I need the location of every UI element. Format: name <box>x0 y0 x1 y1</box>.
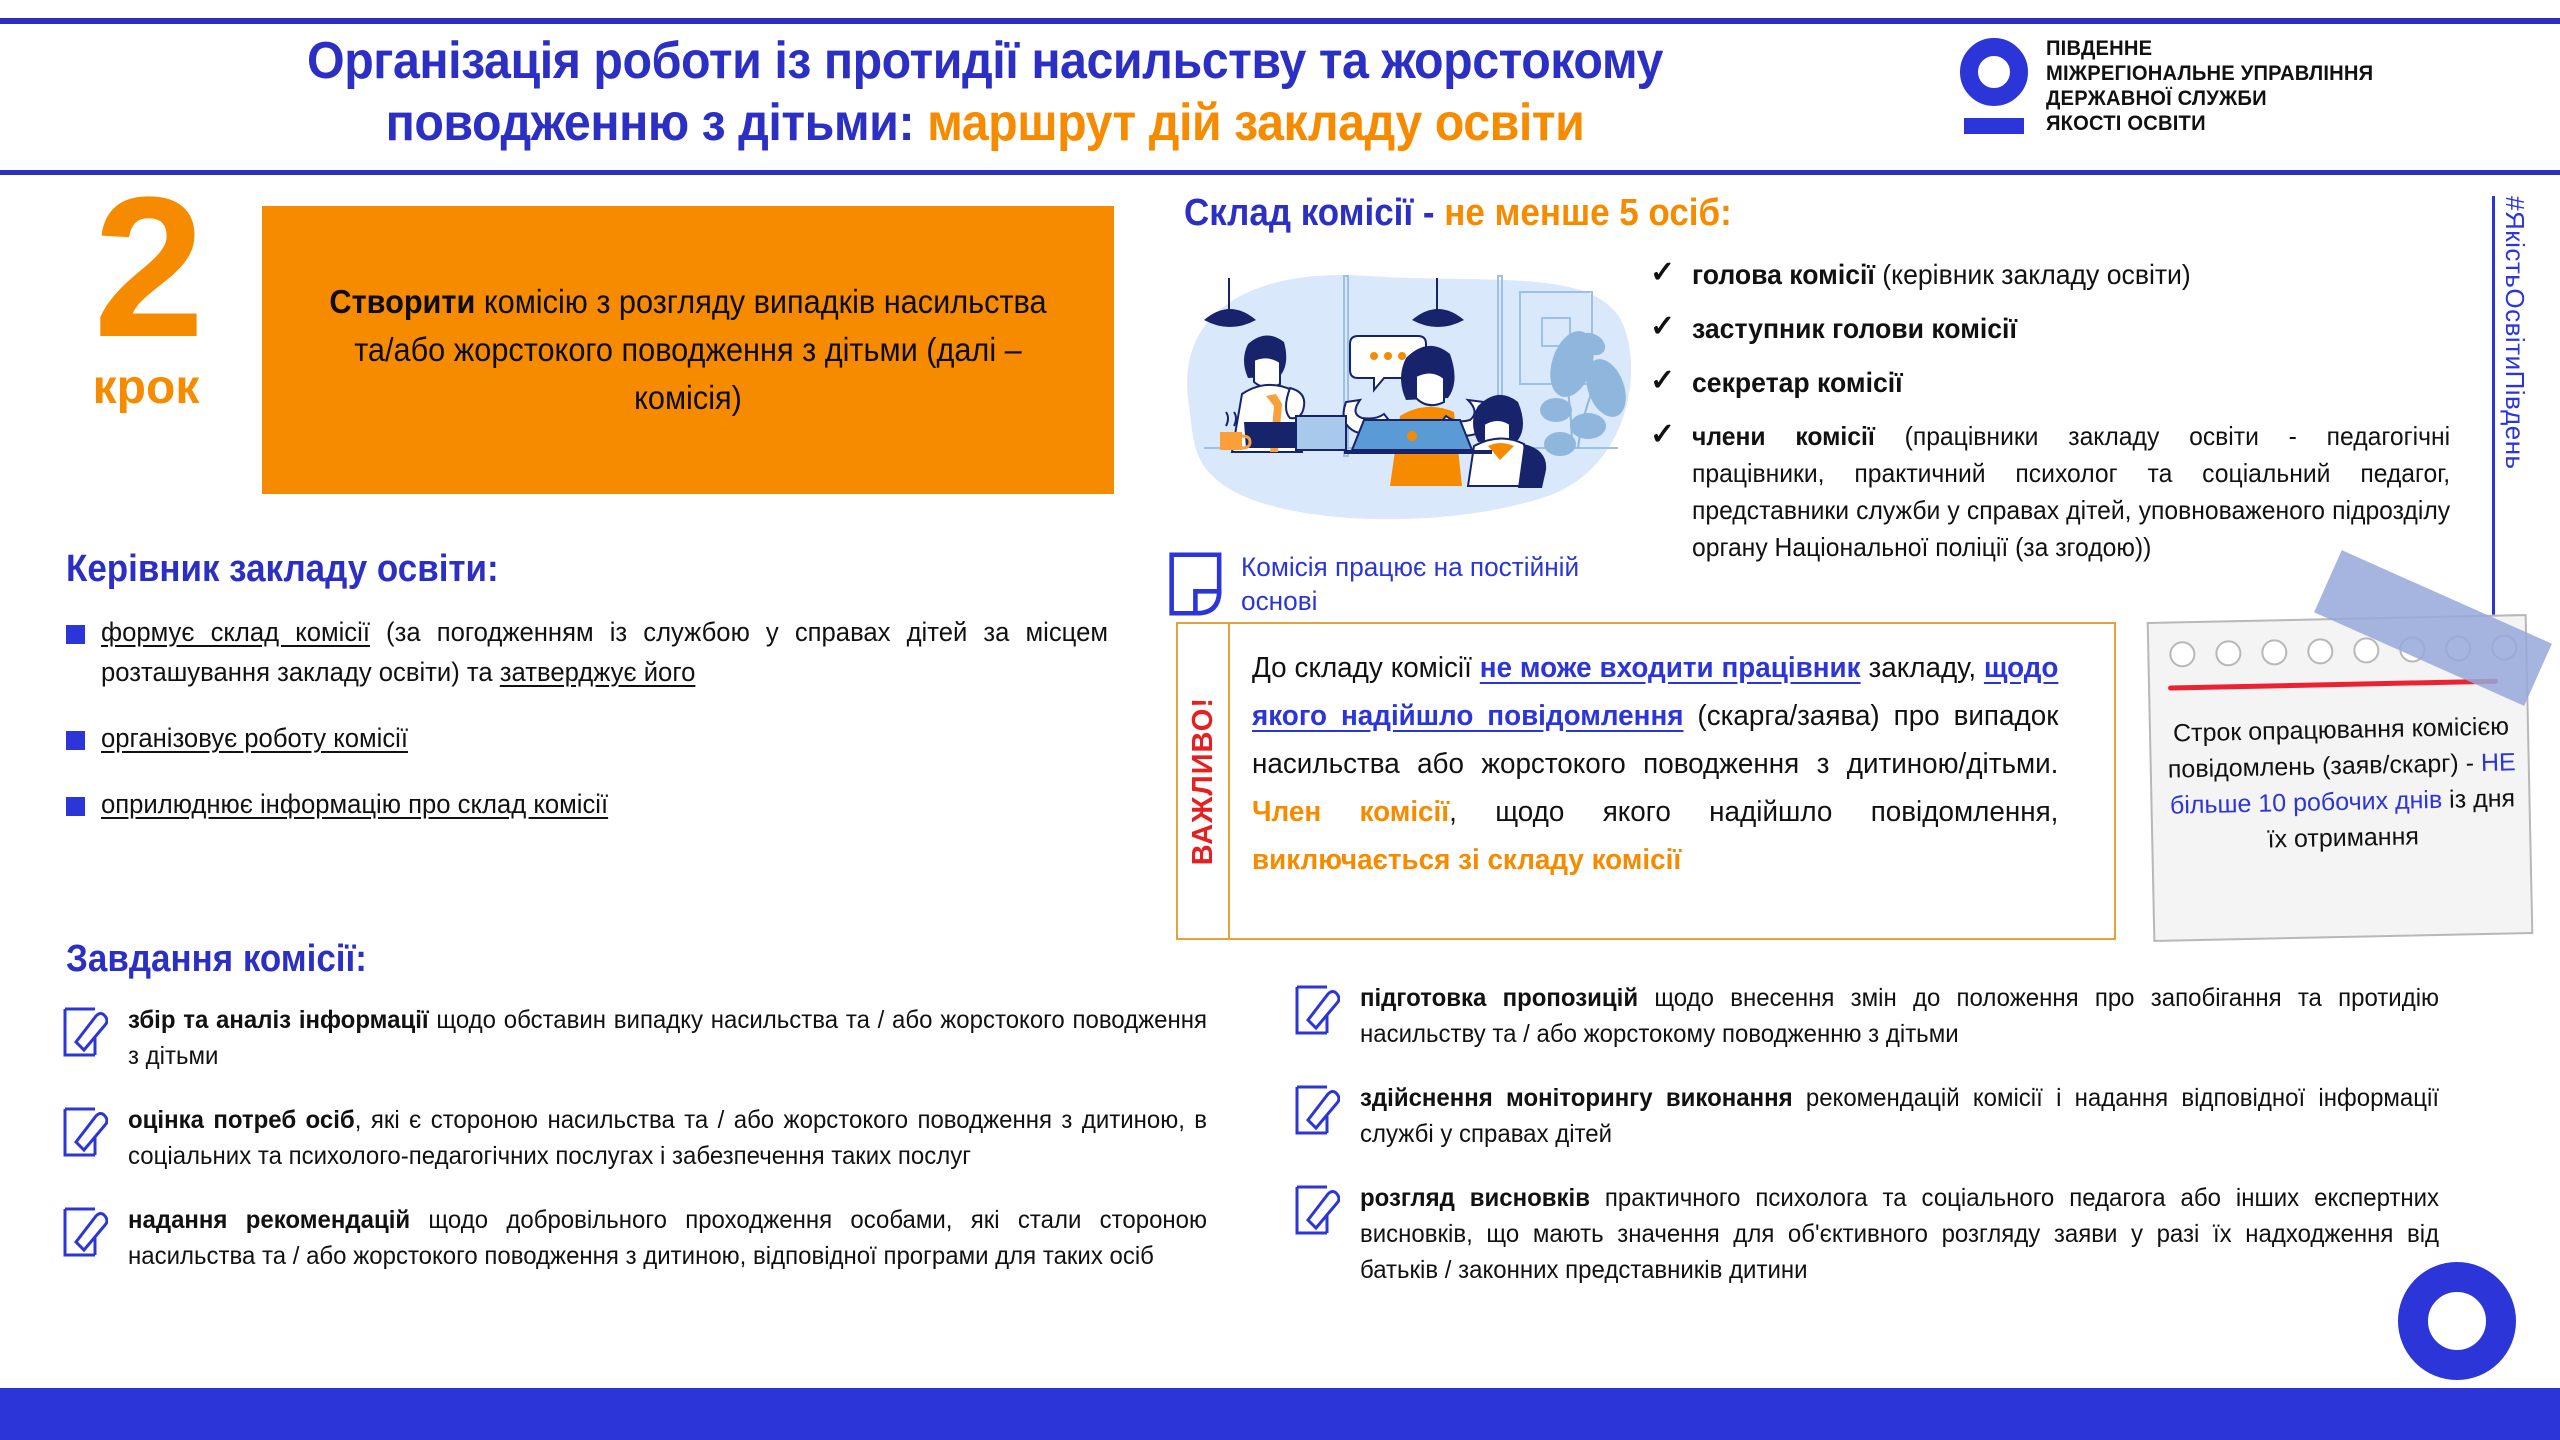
list-item: ✓ заступник голови комісії <box>1650 310 2490 348</box>
permanent-basis-note: Комісія працює на постійній основі <box>1168 548 1638 620</box>
check-mark-icon: ✓ <box>1650 256 1674 294</box>
head-duty-text: організовує роботу комісії <box>101 718 1108 758</box>
head-duty-underline-1: організовує роботу <box>101 723 326 753</box>
important-tab: ВАЖЛИВО! <box>1176 622 1228 940</box>
title-line-1: Організація роботи із протидії насильств… <box>134 30 1836 92</box>
important-body: До складу комісії не може входити праців… <box>1228 622 2116 940</box>
permanent-basis-text: Комісія працює на постійній основі <box>1241 550 1626 618</box>
hole-icon <box>2353 637 2380 664</box>
task-text: надання рекомендацій щодо добровільного … <box>128 1202 1207 1274</box>
member-text: секретар комісії <box>1692 364 2450 402</box>
head-duty-plain-1: комісії <box>326 723 408 753</box>
composition-title-main: Склад комісії - <box>1184 192 1444 234</box>
important-text: До складу комісії не може входити праців… <box>1252 644 2058 884</box>
list-item: оприлюднює інформацію про склад комісії <box>66 784 1166 824</box>
member-bold: секретар комісії <box>1692 367 1903 398</box>
check-mark-icon: ✓ <box>1650 310 1674 348</box>
pencil-edit-icon <box>62 1206 108 1258</box>
header-separator-rule <box>0 170 2560 175</box>
important-orange-2: виключається зі складу комісії <box>1252 844 1681 876</box>
step-description-text: Створити комісію з розгляду випадків нас… <box>292 278 1084 422</box>
head-duty-text: оприлюднює інформацію про склад комісії <box>101 784 1108 824</box>
hashtag-label: #ЯкістьОсвітиПівдень <box>2492 196 2530 626</box>
list-item: ✓ секретар комісії <box>1650 364 2490 402</box>
infographic-page: Організація роботи із протидії насильств… <box>0 0 2560 1440</box>
list-item: ✓ члени комісії (працівники закладу осві… <box>1650 418 2490 566</box>
bookmark-flag-icon <box>1168 548 1223 620</box>
task-text: збір та аналіз інформації щодо обставин … <box>128 1002 1207 1074</box>
task-text: розгляд висновків практичного психолога … <box>1360 1180 2439 1288</box>
pencil-edit-icon <box>1294 1184 1340 1236</box>
task-text: оцінка потреб осіб, які є стороною насил… <box>128 1102 1207 1174</box>
o-mark-logo-icon <box>1960 38 2028 134</box>
square-bullet-icon <box>66 731 85 750</box>
page-title: Організація роботи із протидії насильств… <box>70 30 1900 154</box>
hole-icon <box>2169 641 2196 668</box>
logo-ring-shape <box>1960 38 2028 106</box>
check-mark-icon: ✓ <box>1650 418 1674 566</box>
member-bold: заступник голови комісії <box>1692 313 2017 344</box>
list-item: надання рекомендацій щодо добровільного … <box>62 1202 1252 1274</box>
composition-title-accent: не менше 5 осіб: <box>1444 192 1731 234</box>
tasks-title: Завдання комісії: <box>66 938 367 981</box>
composition-title: Склад комісії - не менше 5 осіб: <box>1184 192 1732 235</box>
square-bullet-icon <box>66 797 85 816</box>
tasks-right-column: підготовка пропозицій щодо внесення змін… <box>1294 980 2484 1316</box>
task-bold: здійснення моніторингу виконання <box>1360 1084 1793 1112</box>
list-item: організовує роботу комісії <box>66 718 1166 758</box>
task-text: здійснення моніторингу виконання рекомен… <box>1360 1080 2439 1152</box>
hole-icon <box>2307 638 2334 665</box>
step-label: крок <box>56 362 236 414</box>
footer-o-mark-icon <box>2398 1262 2516 1380</box>
list-item: здійснення моніторингу виконання рекомен… <box>1294 1080 2484 1152</box>
important-link-1: не може входити працівник <box>1480 652 1861 684</box>
head-section-title: Керівник закладу освіти: <box>66 548 499 591</box>
task-bold: надання рекомендацій <box>128 1206 410 1234</box>
hole-icon <box>2261 639 2288 666</box>
important-t4: , щодо якого надійшло повідомлення, <box>1449 796 2058 828</box>
logo-text-line-1: МІЖРЕГІОНАЛЬНЕ УПРАВЛІННЯ <box>2046 61 2373 86</box>
logo-bar-shape <box>1964 118 2024 134</box>
team-discussion-illustration <box>1168 248 1648 540</box>
square-bullet-icon <box>66 625 85 644</box>
logo-text: ПІВДЕННЕ МІЖРЕГІОНАЛЬНЕ УПРАВЛІННЯ ДЕРЖА… <box>2046 36 2373 136</box>
red-underline-icon <box>2168 679 2498 691</box>
important-t2: закладу, <box>1861 652 1984 684</box>
footer-bar <box>0 1388 2560 1440</box>
task-bold: збір та аналіз інформації <box>128 1006 429 1034</box>
task-bold: розгляд висновків <box>1360 1184 1590 1212</box>
list-item: підготовка пропозицій щодо внесення змін… <box>1294 980 2484 1052</box>
pencil-edit-icon <box>1294 1084 1340 1136</box>
logo-text-line-2: ДЕРЖАВНОЇ СЛУЖБИ <box>2046 86 2373 111</box>
pencil-edit-icon <box>1294 984 1340 1036</box>
head-duty-underline-2: затверджує його <box>500 657 696 687</box>
task-bold: підготовка пропозицій <box>1360 984 1638 1012</box>
deadline-note-text: Строк опрацювання комісією повідомлень (… <box>2163 708 2522 859</box>
head-duty-text: формує склад комісії (за погодженням із … <box>101 612 1108 692</box>
list-item: розгляд висновків практичного психолога … <box>1294 1180 2484 1288</box>
important-callout: ВАЖЛИВО! До складу комісії не може входи… <box>1176 622 2116 940</box>
member-bold: голова комісії <box>1692 259 1875 290</box>
step-description-box: Створити комісію з розгляду випадків нас… <box>262 206 1114 494</box>
important-tab-label: ВАЖЛИВО! <box>1187 697 1220 865</box>
organization-logo: ПІВДЕННЕ МІЖРЕГІОНАЛЬНЕ УПРАВЛІННЯ ДЕРЖА… <box>1960 36 2387 136</box>
composition-members-list: ✓ голова комісії (керівник закладу освіт… <box>1650 256 2490 582</box>
top-rule <box>0 18 2560 24</box>
list-item: формує склад комісії (за погодженням із … <box>66 612 1166 692</box>
step-description-bold: Створити <box>329 283 475 320</box>
member-bold: члени комісії <box>1692 421 1875 451</box>
list-item: збір та аналіз інформації щодо обставин … <box>62 1002 1252 1074</box>
title-main: поводженню з дітьми: <box>386 94 914 152</box>
member-rest: (керівник закладу освіти) <box>1875 259 2191 290</box>
member-text: члени комісії (працівники закладу освіти… <box>1692 418 2450 566</box>
logo-text-line-3: ЯКОСТІ ОСВІТИ <box>2046 111 2373 136</box>
check-mark-icon: ✓ <box>1650 364 1674 402</box>
pencil-edit-icon <box>62 1106 108 1158</box>
step-indicator: 2 крок <box>56 188 236 414</box>
list-item: ✓ голова комісії (керівник закладу освіт… <box>1650 256 2490 294</box>
head-duty-underline-1: формує склад комісії <box>101 617 370 647</box>
logo-text-line-0: ПІВДЕННЕ <box>2046 36 2373 61</box>
head-duties-list: формує склад комісії (за погодженням із … <box>66 612 1166 850</box>
list-item: оцінка потреб осіб, які є стороною насил… <box>62 1102 1252 1174</box>
task-text: підготовка пропозицій щодо внесення змін… <box>1360 980 2439 1052</box>
hole-icon <box>2215 640 2242 667</box>
step-number: 2 <box>56 188 236 348</box>
head-duty-underline-1: оприлюднює інформацію про склад комісії <box>101 789 608 819</box>
tasks-left-column: збір та аналіз інформації щодо обставин … <box>62 1002 1252 1302</box>
member-text: голова комісії (керівник закладу освіти) <box>1692 256 2450 294</box>
title-accent: маршрут дій закладу освіти <box>927 94 1584 152</box>
note-t1: Строк опрацювання комісією повідомлень (… <box>2168 712 2510 783</box>
title-line-2: поводженню з дітьми: маршрут дій закладу… <box>134 92 1836 154</box>
task-bold: оцінка потреб осіб <box>128 1106 355 1134</box>
pencil-edit-icon <box>62 1006 108 1058</box>
member-text: заступник голови комісії <box>1692 310 2450 348</box>
important-t1: До складу комісії <box>1252 652 1480 684</box>
important-orange-1: Член комісії <box>1252 796 1449 828</box>
